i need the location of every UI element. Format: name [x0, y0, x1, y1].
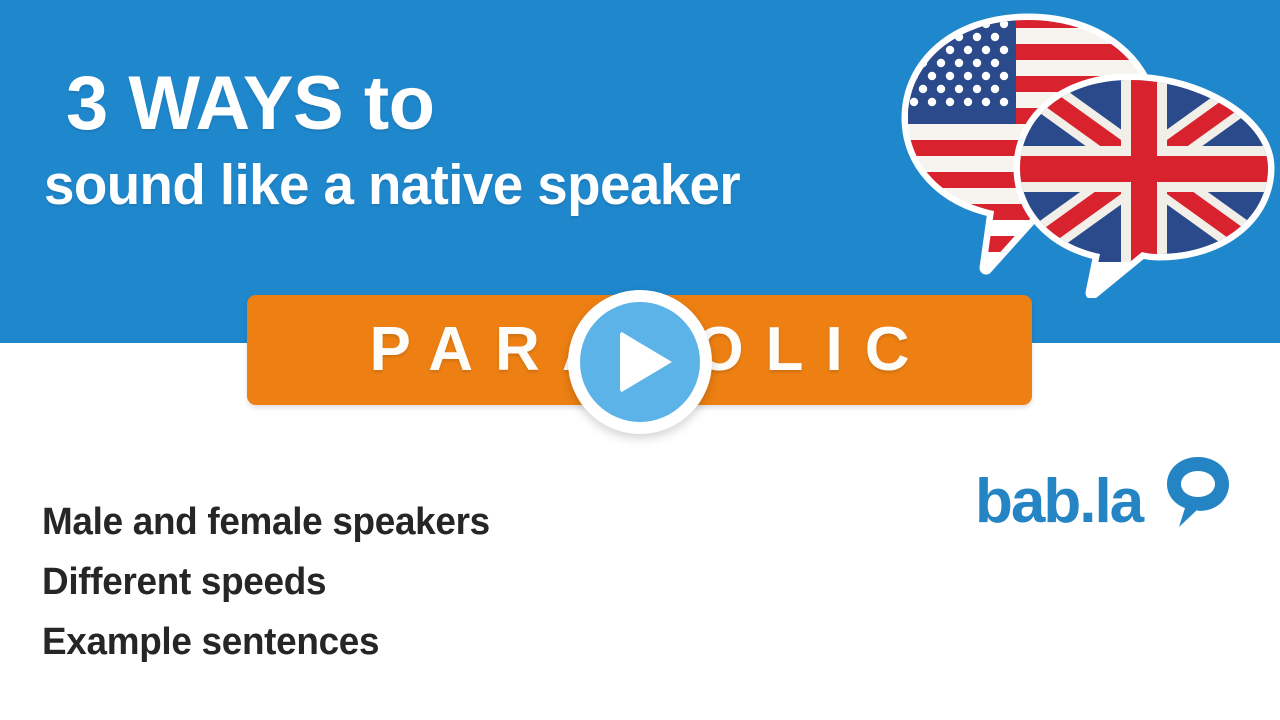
list-item: Example sentences [42, 612, 721, 672]
list-item: Different speeds [42, 552, 721, 612]
flag-bubbles-svg [890, 8, 1280, 298]
title-block: 3 WAYS to sound like a native speaker [66, 62, 886, 218]
babla-logo[interactable]: bab.la [975, 455, 1205, 550]
play-triangle-icon [620, 331, 672, 393]
video-thumbnail: 3 WAYS to sound like a native speaker [0, 0, 1280, 720]
play-button[interactable] [568, 290, 712, 434]
list-item: Male and female speakers [42, 492, 721, 552]
page-title: 3 WAYS to [66, 62, 886, 146]
play-circle [580, 302, 700, 422]
babla-wordmark: bab.la [975, 467, 1142, 537]
feature-list: Male and female speakers Different speed… [42, 492, 742, 672]
uk-flag-speech-bubble-icon [1012, 72, 1276, 293]
flag-bubbles-group [890, 8, 1280, 298]
page-subtitle: sound like a native speaker [44, 152, 852, 218]
speech-bubble-icon [1165, 455, 1231, 531]
